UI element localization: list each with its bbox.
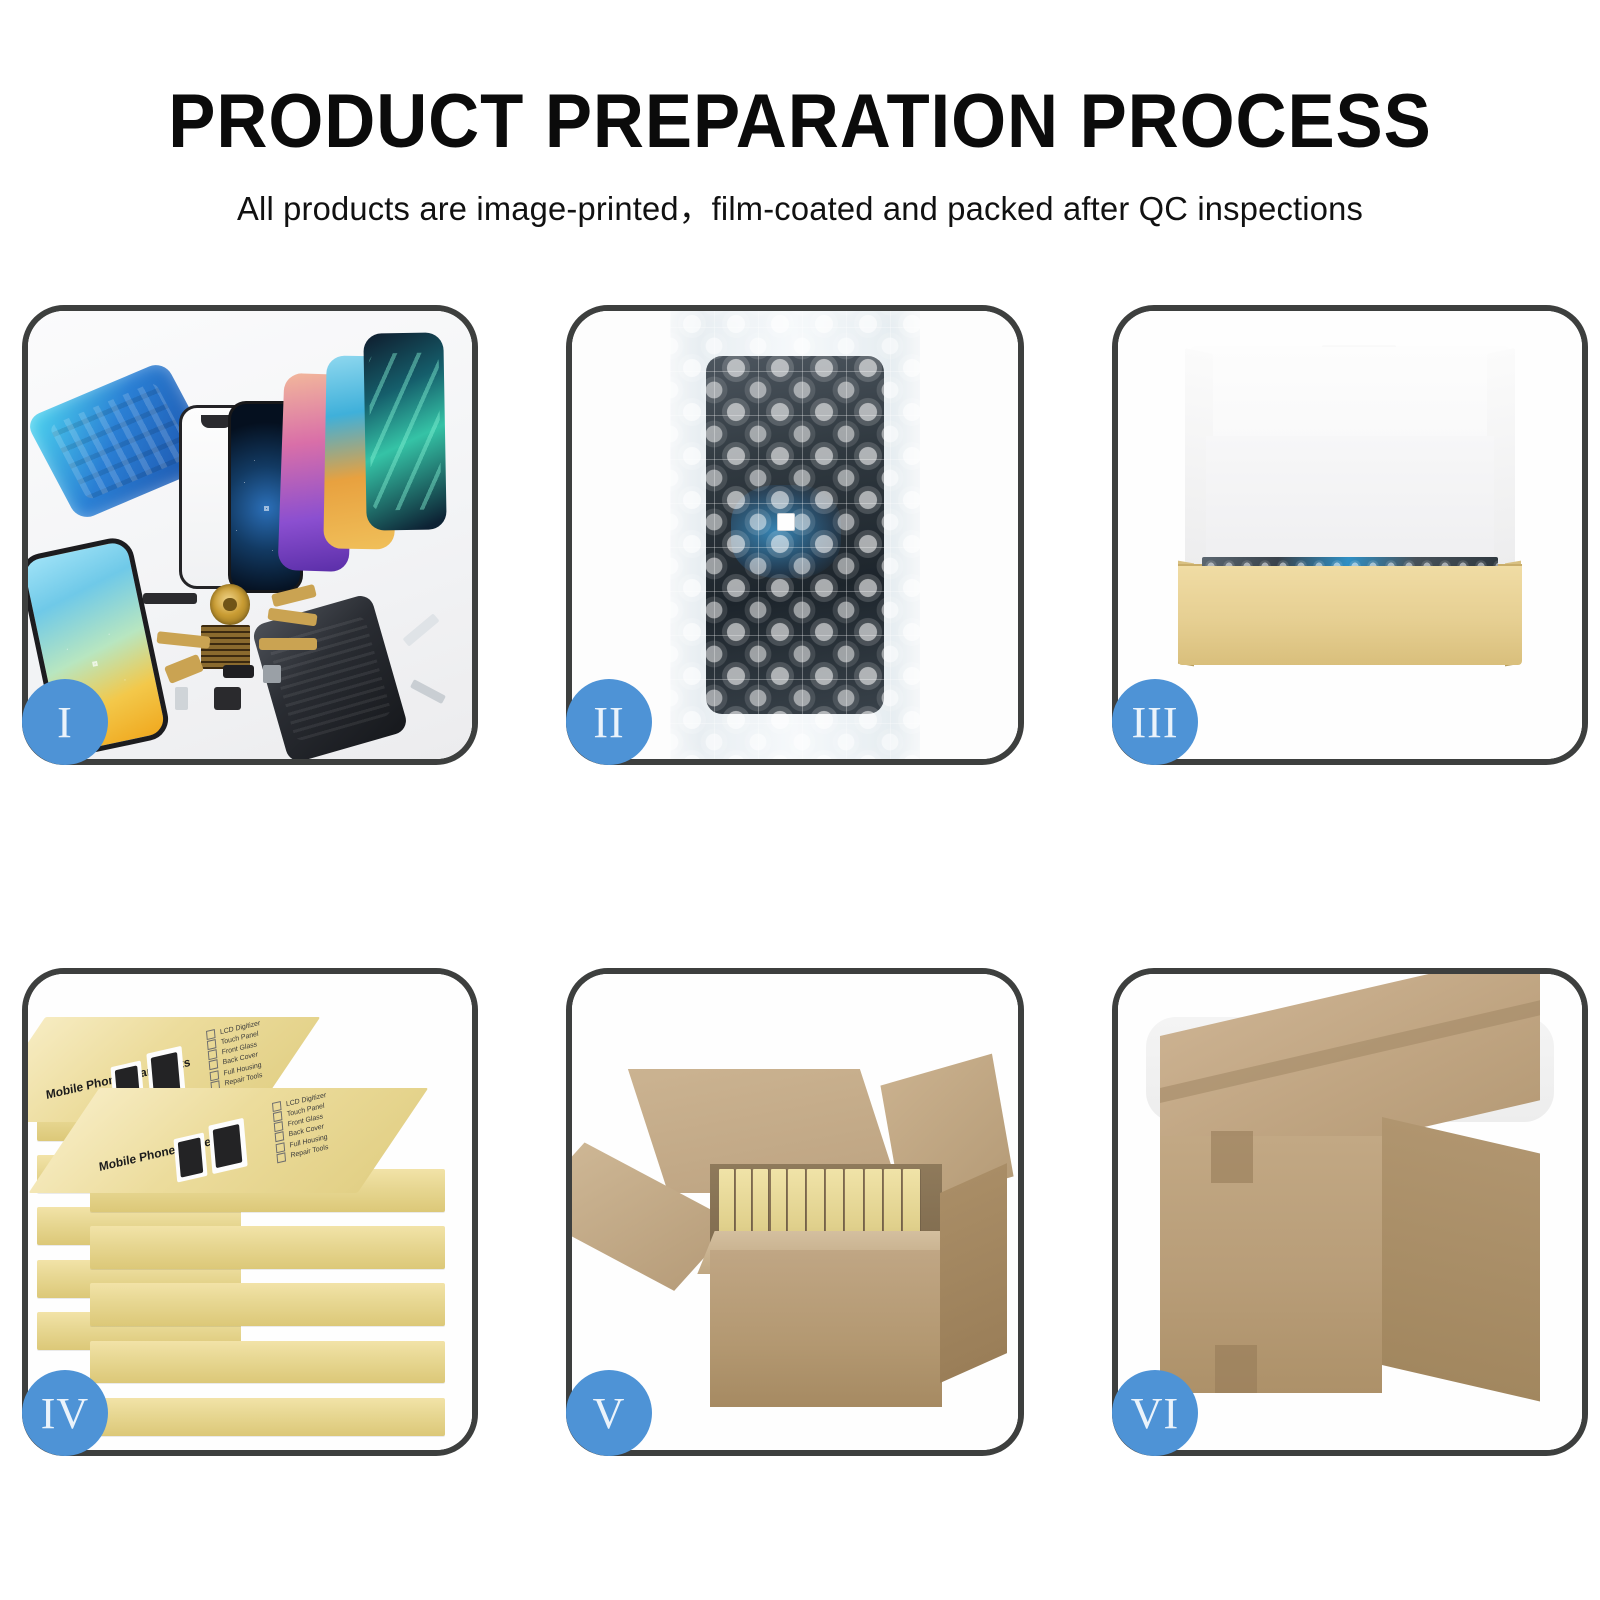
camera-module (263, 665, 281, 683)
retail-box-fr-4 (90, 1341, 445, 1384)
repair-tool-screwdriver (410, 679, 446, 704)
taptic-engine (214, 687, 241, 709)
sim-tray (175, 687, 188, 709)
volume-button-flex (259, 638, 317, 650)
open-carton-scene (572, 974, 1018, 1450)
step-6-image (1118, 974, 1582, 1450)
retail-box-checklist-2: LCD Digitizer Touch Panel Front Glass Ba… (272, 1090, 331, 1164)
box-window-2a (173, 1132, 207, 1182)
carton-front-face (710, 1250, 942, 1407)
wireless-charging-coil (210, 584, 250, 624)
product-preparation-infographic: PRODUCT PREPARATION PROCESS All products… (0, 0, 1600, 1600)
antenna-flex (164, 654, 204, 684)
step-badge-1: I (22, 679, 108, 765)
retail-box-fr-2 (90, 1226, 445, 1269)
step-panel-3: III (1112, 305, 1588, 765)
box-front-face (1178, 566, 1521, 665)
step-badge-5: V (566, 1370, 652, 1456)
step-badge-6: VI (1112, 1370, 1198, 1456)
repair-tool-spudger (402, 613, 439, 646)
tape-strip-upper (1211, 1131, 1253, 1183)
step-panel-6: VI (1112, 968, 1588, 1456)
ic-chip (223, 665, 254, 678)
retail-box-checklist-1: LCD Digitizer Touch Panel Front Glass Ba… (206, 1019, 265, 1093)
step-panel-4: Mobile Phone Spare Parts LCD Digitizer T… (22, 968, 478, 1456)
process-step-grid: I II (0, 0, 1600, 1600)
carton-sealed-front-face (1160, 1136, 1383, 1393)
stacked-retail-boxes-scene: Mobile Phone Spare Parts LCD Digitizer T… (28, 974, 472, 1450)
step-3-image (1118, 311, 1582, 759)
carton-sealed-right-face (1382, 1117, 1540, 1401)
retail-box-fr-5 (90, 1398, 445, 1436)
bubble-texture-overlay (670, 311, 920, 759)
step-4-image: Mobile Phone Spare Parts LCD Digitizer T… (28, 974, 472, 1450)
green-display-phone (364, 333, 447, 531)
step-panel-2: II (566, 305, 1024, 765)
step-panel-5: V (566, 968, 1024, 1456)
step-badge-2: II (566, 679, 652, 765)
carton-right-face (940, 1163, 1007, 1383)
retail-box-fr-3 (90, 1283, 445, 1326)
open-mailer-box-scene (1118, 311, 1582, 759)
step-5-image (572, 974, 1018, 1450)
box-window-2b (208, 1117, 247, 1173)
step-panel-1: I (22, 305, 478, 765)
sealed-carton-scene (1118, 974, 1582, 1450)
qc-sticker (777, 513, 795, 532)
step-badge-3: III (1112, 679, 1198, 765)
step-badge-4: IV (22, 1370, 108, 1456)
earpiece-speaker (143, 593, 196, 604)
tape-strip-lower (1215, 1345, 1257, 1393)
